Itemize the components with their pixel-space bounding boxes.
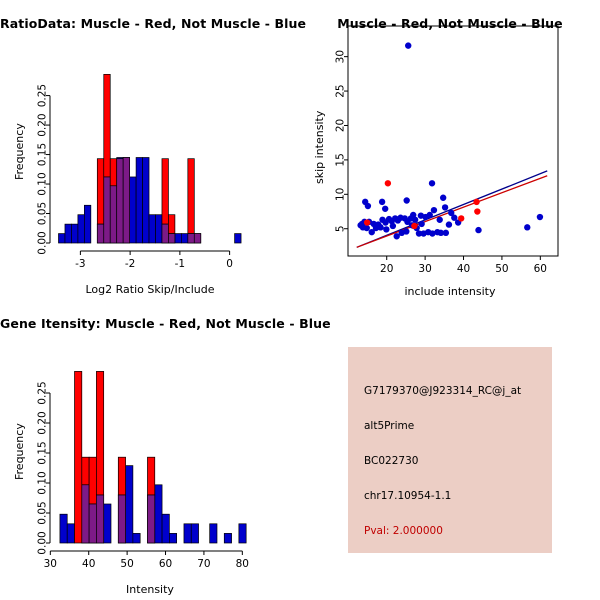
scatter-point — [379, 199, 385, 205]
x-tick-label: 30 — [418, 263, 431, 275]
histogram-bar-not-muscle — [136, 158, 142, 244]
histogram-bar-muscle — [89, 457, 96, 504]
y-tick-label: 15 — [335, 153, 347, 166]
y-tick-label: 10 — [335, 188, 347, 201]
y-tick-label: 0.10 — [37, 172, 49, 195]
scatter-point — [458, 215, 464, 221]
y-tick-label: 30 — [335, 50, 347, 63]
bars — [60, 371, 246, 543]
y-tick-label: 0.15 — [37, 441, 49, 464]
scatter-point — [431, 207, 437, 213]
intensity-scatter-panel: Muscle - Red, Not Muscle - Blue skip int… — [300, 0, 600, 300]
histogram-bar-overlap — [110, 186, 116, 243]
histogram-bar-not-muscle — [184, 524, 191, 543]
info-line-locus: chr17.10954-1.1 — [364, 490, 451, 502]
scatter-point — [440, 195, 446, 201]
x-tick-label: -3 — [75, 258, 85, 270]
histogram-bar-not-muscle — [162, 514, 169, 543]
y-tick-label: 25 — [335, 84, 347, 97]
histogram-bar-not-muscle — [60, 514, 67, 543]
histogram-bar-not-muscle — [104, 504, 111, 543]
scatter-point — [443, 230, 449, 236]
histogram-bar-not-muscle — [155, 215, 161, 243]
x-tick-label: 50 — [120, 558, 133, 570]
histogram-bar-muscle — [110, 159, 116, 186]
x-tick-label: 40 — [457, 263, 470, 275]
histogram-bar-not-muscle — [210, 524, 217, 543]
histogram-bar-not-muscle — [224, 533, 231, 543]
ratio-histogram-panel: RatioData: Muscle - Red, Not Muscle - Bl… — [0, 0, 300, 300]
info-line-pval: Pval: 2.000000 — [364, 525, 443, 537]
y-tick-label: 0.20 — [37, 113, 49, 136]
scatter-point — [364, 219, 370, 225]
histogram-bar-muscle — [75, 371, 82, 543]
scatter-point — [473, 199, 479, 205]
histogram-bar-not-muscle — [126, 466, 133, 543]
histogram-bar-overlap — [89, 504, 96, 543]
bars — [58, 74, 241, 243]
x-tick-label: 70 — [197, 558, 210, 570]
histogram-bar-overlap — [118, 495, 125, 543]
histogram-bar-not-muscle — [181, 234, 187, 243]
histogram-bar-overlap — [168, 234, 174, 243]
histogram-bar-not-muscle — [235, 234, 241, 243]
histogram-bar-not-muscle — [239, 524, 246, 543]
histogram-bar-not-muscle — [58, 234, 64, 243]
scatter-point — [379, 217, 385, 223]
gene-intensity-histogram-panel: Gene Itensity: Muscle - Red, Not Muscle … — [0, 300, 300, 600]
histogram-bar-muscle — [97, 159, 103, 224]
histogram-bar-overlap — [123, 158, 129, 244]
histogram-bar-overlap — [96, 495, 103, 543]
histogram-bar-muscle — [188, 159, 194, 234]
x-tick-label: 40 — [82, 558, 95, 570]
histogram-bar-not-muscle — [65, 224, 71, 243]
y-tick-label: 0.05 — [37, 202, 49, 225]
scatter-point — [442, 204, 448, 210]
y-tick-label: 5 — [335, 225, 347, 232]
histogram-bar-muscle — [147, 457, 154, 495]
gene-intensity-histogram-plot: 0.000.050.100.150.200.25304050607080 — [0, 300, 300, 600]
scatter-point — [364, 225, 370, 231]
scatter-point — [446, 221, 452, 227]
scatter-point — [385, 180, 391, 186]
x-tick-label: 60 — [534, 263, 547, 275]
x-tick-label: 0 — [226, 258, 233, 270]
x-tick-label: 60 — [159, 558, 172, 570]
histogram-bar-overlap — [188, 234, 194, 243]
scatter-point — [405, 42, 411, 48]
histogram-bar-overlap — [194, 234, 200, 243]
scatter-point — [390, 223, 396, 229]
y-tick-label: 0.10 — [37, 471, 49, 494]
x-tick-label: -1 — [175, 258, 185, 270]
histogram-bar-overlap — [104, 177, 110, 243]
histogram-bar-not-muscle — [143, 158, 149, 244]
scatter-point — [437, 217, 443, 223]
info-line-event-type: alt5Prime — [364, 420, 414, 432]
scatter-point — [524, 224, 530, 230]
histogram-bar-overlap — [162, 224, 168, 243]
histogram-bar-not-muscle — [149, 215, 155, 243]
scatter-point — [377, 224, 383, 230]
y-tick-label: 0.00 — [37, 531, 49, 554]
scatter-point — [474, 208, 480, 214]
scatter-point — [382, 206, 388, 212]
histogram-bar-not-muscle — [130, 177, 136, 243]
scatter-point — [410, 212, 416, 218]
histogram-bar-not-muscle — [155, 485, 162, 543]
y-tick-label: 0.00 — [37, 231, 49, 254]
plot-frame — [348, 26, 558, 256]
histogram-bar-overlap — [97, 224, 103, 243]
x-tick-label: 50 — [495, 263, 508, 275]
intensity-scatter-plot: 510152025302030405060 — [300, 0, 600, 300]
histogram-bar-not-muscle — [78, 215, 84, 243]
x-tick-label: -2 — [125, 258, 135, 270]
histogram-bar-muscle — [82, 457, 89, 485]
histogram-bar-not-muscle — [71, 224, 77, 243]
histogram-bar-not-muscle — [67, 524, 74, 543]
info-line-probe-id: G7179370@J923314_RC@j_at — [364, 385, 521, 397]
histogram-bar-not-muscle — [84, 205, 90, 243]
y-tick-label: 0.20 — [37, 411, 49, 434]
info-line-accession: BC022730 — [364, 455, 418, 467]
y-tick-label: 0.05 — [37, 501, 49, 524]
probe-info-panel: G7179370@J923314_RC@j_at alt5Prime BC022… — [348, 347, 552, 553]
y-tick-label: 0.25 — [37, 381, 49, 404]
scatter-point — [411, 223, 417, 229]
histogram-bar-muscle — [96, 371, 103, 495]
axes: 510152025302030405060 — [335, 50, 547, 275]
scatter-point — [537, 214, 543, 220]
histogram-bar-muscle — [168, 215, 174, 234]
scatter-point — [475, 227, 481, 233]
scatter-point — [429, 180, 435, 186]
plot-canvas: RatioData: Muscle - Red, Not Muscle - Bl… — [0, 0, 600, 600]
y-tick-label: 20 — [335, 119, 347, 132]
y-tick-label: 0.15 — [37, 143, 49, 166]
scatter-point — [403, 197, 409, 203]
x-tick-label: 30 — [44, 558, 57, 570]
bars-muscle — [75, 371, 155, 543]
scatter-point — [418, 212, 424, 218]
histogram-bar-overlap — [117, 159, 123, 243]
x-tick-label: 80 — [236, 558, 249, 570]
scatter-points — [357, 42, 547, 247]
scatter-point — [383, 226, 389, 232]
histogram-bar-overlap — [82, 485, 89, 543]
x-tick-label: 20 — [380, 263, 393, 275]
scatter-point — [403, 228, 409, 234]
ratio-histogram-plot: 0.000.050.100.150.200.25-3-2-10 — [0, 0, 300, 300]
scatter-point — [365, 203, 371, 209]
histogram-bar-not-muscle — [175, 234, 181, 243]
y-tick-label: 0.25 — [37, 84, 49, 107]
histogram-bar-muscle — [162, 159, 168, 224]
histogram-bar-muscle — [118, 457, 125, 495]
histogram-bar-overlap — [147, 495, 154, 543]
histogram-bar-muscle — [104, 74, 110, 177]
histogram-bar-not-muscle — [169, 533, 176, 543]
histogram-bar-not-muscle — [191, 524, 198, 543]
histogram-bar-not-muscle — [133, 533, 140, 543]
scatter-point — [418, 221, 424, 227]
